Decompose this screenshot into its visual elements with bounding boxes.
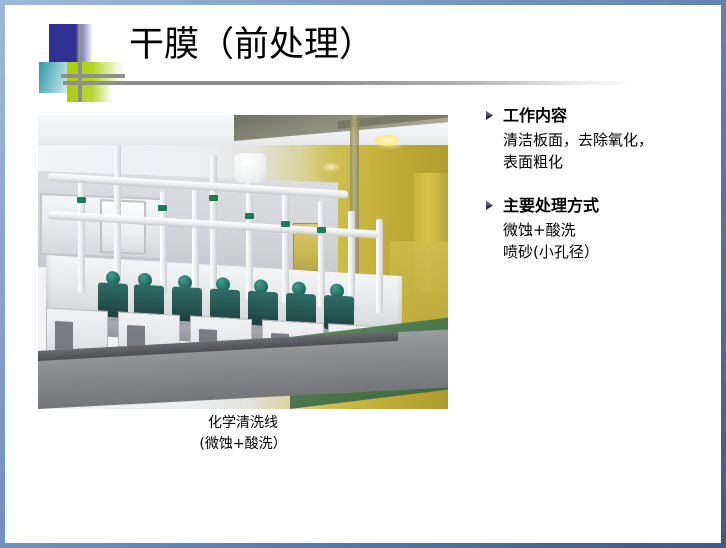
photo-valve-3: [209, 195, 218, 201]
chemical-cleaning-line-photo: [38, 115, 448, 409]
bullet-heading-text: 工作内容: [503, 106, 567, 125]
logo-green-bar-lower: [67, 84, 113, 102]
bullet-body-work-content: 清洁板面，去除氧化， 表面粗化: [475, 129, 715, 173]
bullet-body-line-2: 喷砂(小孔径）: [503, 241, 715, 263]
bullet-body-line-1: 清洁板面，去除氧化，: [503, 129, 715, 151]
photo-valve-5: [281, 221, 290, 227]
bullet-body-line-2: 表面粗化: [503, 151, 715, 173]
photo-valve-4: [245, 213, 254, 219]
photo-valve-2: [158, 205, 167, 211]
bullet-block-work-content: 工作内容 清洁板面，去除氧化， 表面粗化: [475, 105, 715, 173]
photo-caption-line-2: (微蚀+酸洗）: [135, 434, 351, 455]
arrow-bullet-icon: [476, 109, 496, 123]
photo-valve-6: [317, 227, 326, 233]
bullet-body-main-process: 微蚀+酸洗 喷砂(小孔径）: [475, 219, 715, 263]
content-column: 工作内容 清洁板面，去除氧化， 表面粗化 主要处理方式: [475, 105, 715, 279]
decorative-logo-mark: [39, 24, 125, 102]
photo-filter-housing: [234, 153, 266, 183]
photo-valve-1: [77, 197, 86, 203]
photo-ceiling-lamp: [374, 135, 400, 146]
bullet-block-main-process: 主要处理方式 微蚀+酸洗 喷砂(小孔径）: [475, 195, 715, 263]
arrow-bullet-icon: [476, 199, 496, 213]
logo-horizontal-rule: [61, 74, 125, 78]
slide-title: 干膜（前处理）: [129, 23, 374, 67]
photo-caption-line-1: 化学清洗线: [135, 413, 351, 434]
photo-frame: [38, 115, 448, 409]
bullet-heading-main-process: 主要处理方式: [475, 195, 715, 217]
bullet-heading-work-content: 工作内容: [475, 105, 715, 127]
photo-caption: 化学清洗线 (微蚀+酸洗）: [135, 413, 351, 455]
logo-blue-square: [49, 24, 76, 62]
bullet-heading-text: 主要处理方式: [503, 196, 599, 215]
presentation-slide: 干膜（前处理）: [0, 0, 726, 548]
slide-canvas: 干膜（前处理）: [5, 5, 721, 543]
bullet-body-line-1: 微蚀+酸洗: [503, 219, 715, 241]
title-underline-rule: [63, 81, 633, 85]
logo-vertical-rule: [78, 24, 82, 102]
photo-window-right: [100, 199, 146, 255]
